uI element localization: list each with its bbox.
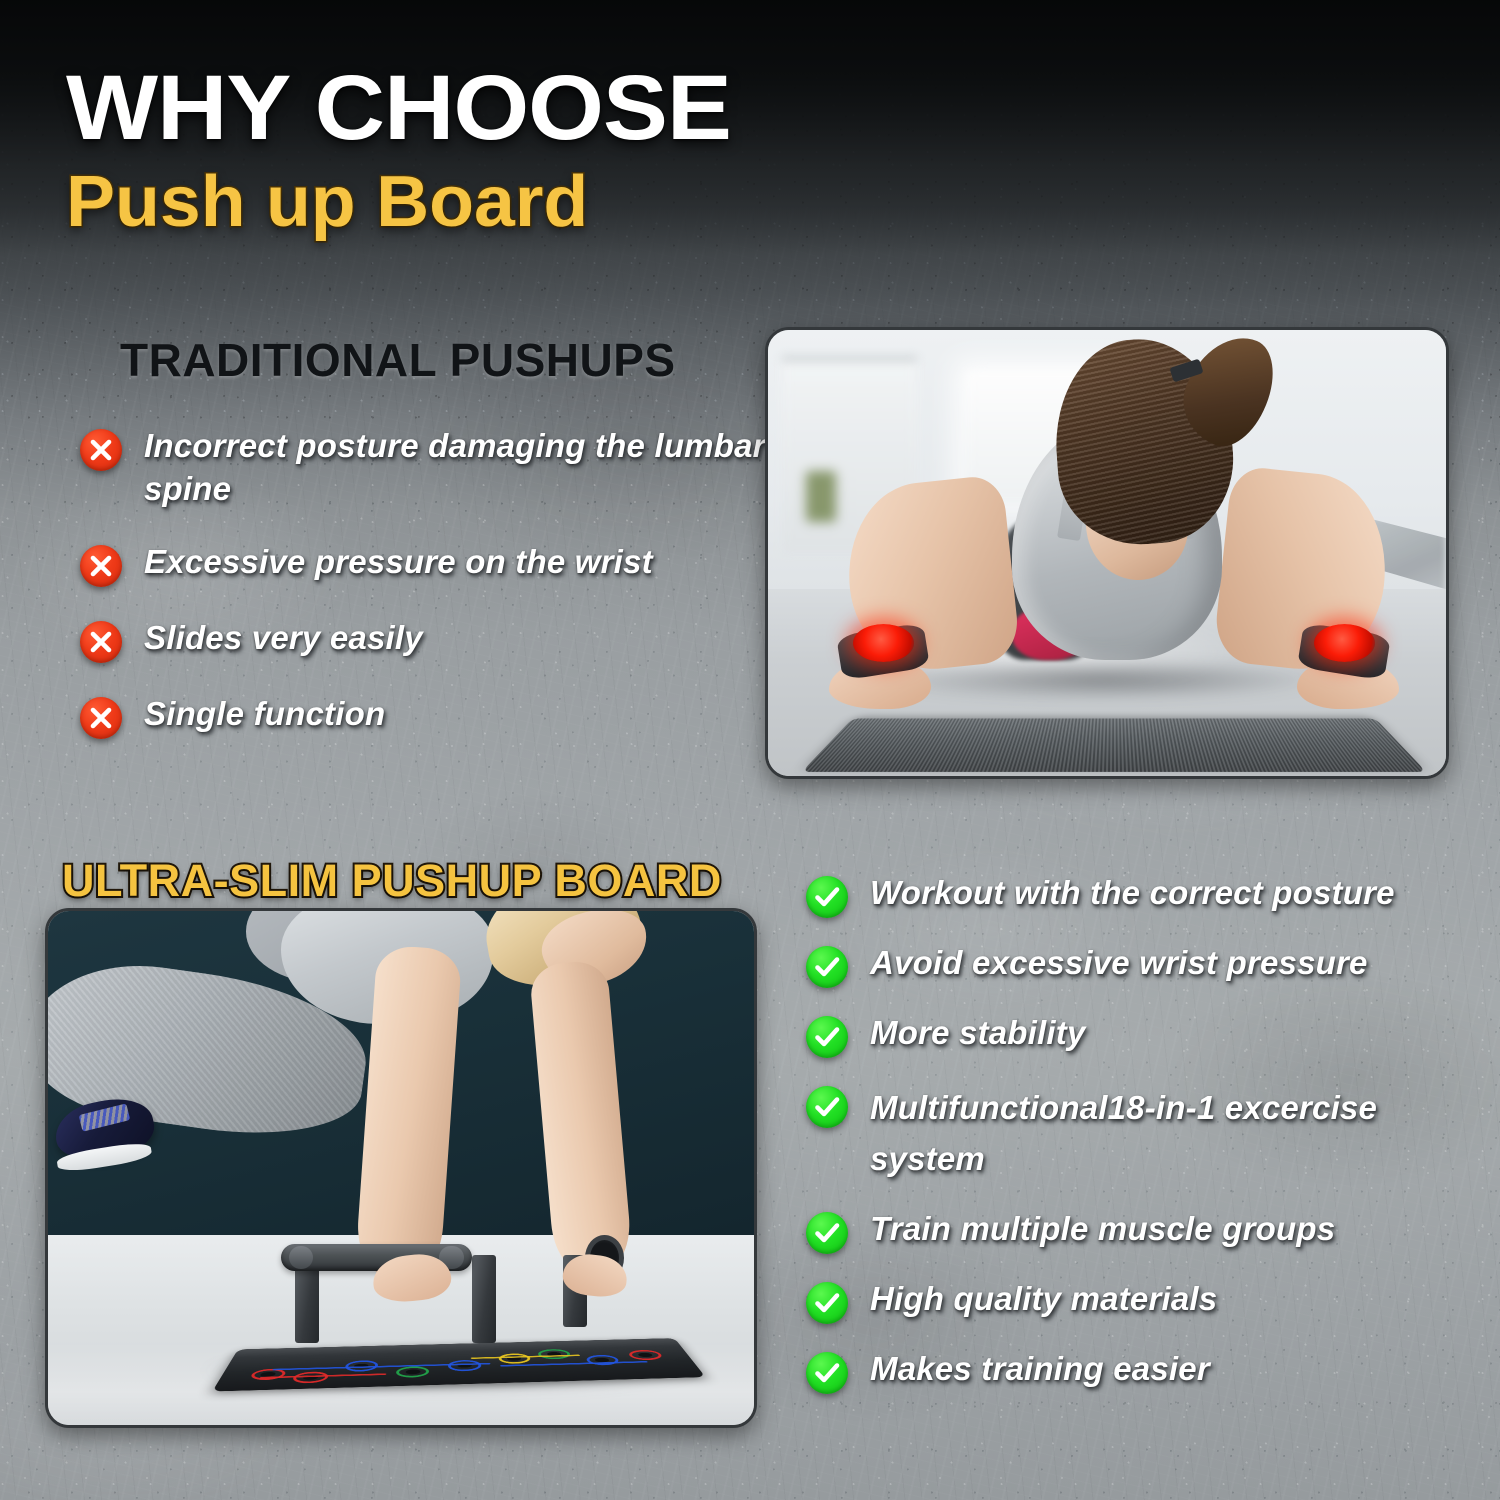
traditional-drawbacks-list: Incorrect posture damaging the lumbar sp…	[80, 425, 770, 769]
headline-block: WHY CHOOSE Push up Board	[66, 62, 693, 238]
board-slot-green	[396, 1366, 430, 1378]
check-circle-icon	[806, 1282, 848, 1324]
list-item: Slides very easily	[80, 617, 770, 663]
check-circle-icon	[806, 946, 848, 988]
list-item-label: Excessive pressure on the wrist	[144, 541, 653, 584]
cross-circle-icon	[80, 545, 122, 587]
list-item-label: Workout with the correct posture	[870, 872, 1395, 915]
handle-post-right	[472, 1255, 496, 1342]
list-item-label: High quality materials	[870, 1278, 1217, 1321]
list-item: More stability	[806, 1012, 1486, 1058]
infographic-content: WHY CHOOSE Push up Board TRADITIONAL PUS…	[0, 0, 1500, 1500]
pushup-board-photo	[45, 908, 757, 1428]
list-item-label: Incorrect posture damaging the lumbar sp…	[144, 425, 770, 511]
list-item-label: Multifunctional18-in-1 excercise system	[870, 1082, 1486, 1184]
traditional-section-heading: TRADITIONAL PUSHUPS	[120, 333, 676, 387]
board-slot-red	[627, 1349, 665, 1360]
list-item: Multifunctional18-in-1 excercise system	[806, 1082, 1486, 1184]
wrist-pain-glow-left	[853, 624, 914, 662]
board-slot-green	[537, 1349, 572, 1360]
check-circle-icon	[806, 1016, 848, 1058]
cross-circle-icon	[80, 621, 122, 663]
headline-secondary: Push up Board	[66, 166, 706, 238]
headline-primary: WHY CHOOSE	[66, 62, 731, 154]
list-item-label: Slides very easily	[144, 617, 423, 660]
board-section-heading: ULTRA-SLIM PUSHUP BOARD	[62, 855, 722, 907]
list-item-label: More stability	[870, 1012, 1086, 1055]
board-benefits-list: Workout with the correct posture Avoid e…	[806, 872, 1486, 1418]
list-item: Makes training easier	[806, 1348, 1486, 1394]
board-slot-yellow	[498, 1353, 532, 1364]
cross-circle-icon	[80, 429, 122, 471]
list-item: Excessive pressure on the wrist	[80, 541, 770, 587]
list-item: Single function	[80, 693, 770, 739]
check-circle-icon	[806, 876, 848, 918]
list-item-label: Train multiple muscle groups	[870, 1208, 1335, 1251]
list-item: High quality materials	[806, 1278, 1486, 1324]
check-circle-icon	[806, 1212, 848, 1254]
list-item-label: Single function	[144, 693, 385, 736]
list-item: Incorrect posture damaging the lumbar sp…	[80, 425, 770, 511]
photo-scene-board	[48, 911, 754, 1425]
list-item: Workout with the correct posture	[806, 872, 1486, 918]
check-circle-icon	[806, 1352, 848, 1394]
list-item-label: Makes training easier	[870, 1348, 1210, 1391]
cross-circle-icon	[80, 697, 122, 739]
list-item-label: Avoid excessive wrist pressure	[870, 942, 1368, 985]
list-item: Avoid excessive wrist pressure	[806, 942, 1486, 988]
check-circle-icon	[806, 1086, 848, 1128]
photo-scene-traditional	[768, 330, 1446, 776]
list-item: Train multiple muscle groups	[806, 1208, 1486, 1254]
traditional-pushup-photo	[765, 327, 1449, 779]
wrist-pain-glow-right	[1314, 624, 1375, 662]
